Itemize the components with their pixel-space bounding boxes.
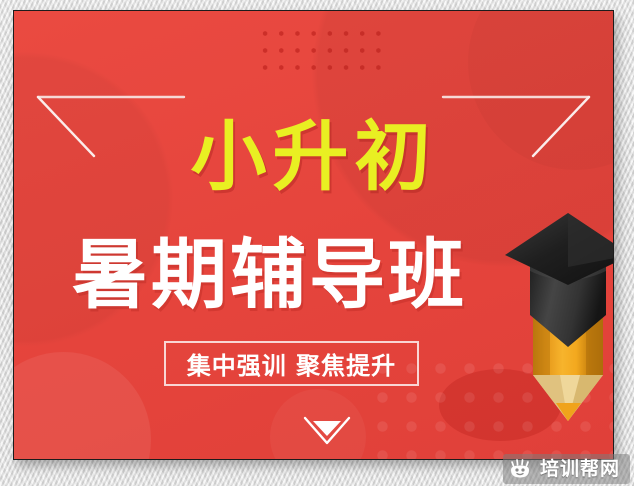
pencil-with-graduation-cap-icon — [500, 207, 614, 435]
smiley-sun-face-icon — [509, 459, 533, 480]
poster-root: 小升初 暑期辅导班 集中强训 聚焦提升 — [0, 0, 634, 486]
scroll-down-chevron-icon[interactable] — [302, 415, 352, 447]
promo-banner: 小升初 暑期辅导班 集中强训 聚焦提升 — [13, 10, 614, 460]
headline-secondary: 暑期辅导班 — [72, 237, 542, 313]
subtitle-text: 集中强训 聚焦提升 — [187, 346, 396, 381]
watermark: 培训帮网 — [503, 454, 630, 484]
watermark-text: 培训帮网 — [540, 460, 620, 479]
headline-primary: 小升初 — [14, 119, 613, 195]
dot-grid-top-icon — [257, 25, 387, 75]
subtitle-box: 集中强训 聚焦提升 — [164, 341, 419, 386]
